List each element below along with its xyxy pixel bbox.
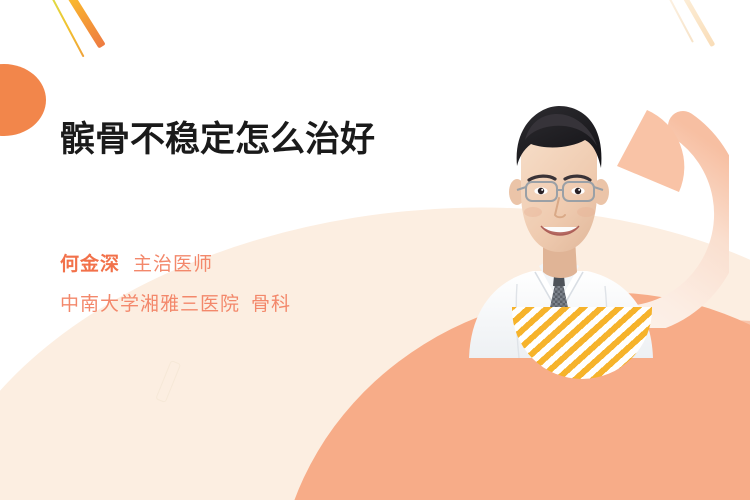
text-content-layer: 髌骨不稳定怎么治好 何金深 主治医师 中南大学湘雅三医院 骨科 xyxy=(0,0,750,500)
doctor-affiliation: 中南大学湘雅三医院 骨科 xyxy=(60,289,291,316)
doctor-byline: 何金深 主治医师 xyxy=(60,249,213,276)
hospital-name: 中南大学湘雅三医院 xyxy=(60,289,240,316)
department-name: 骨科 xyxy=(251,289,291,316)
article-title: 髌骨不稳定怎么治好 xyxy=(60,118,410,162)
doctor-name: 何金深 xyxy=(60,249,120,276)
doctor-article-cover-card: 髌骨不稳定怎么治好 何金深 主治医师 中南大学湘雅三医院 骨科 xyxy=(0,0,750,500)
doctor-professional-title: 主治医师 xyxy=(133,249,213,276)
